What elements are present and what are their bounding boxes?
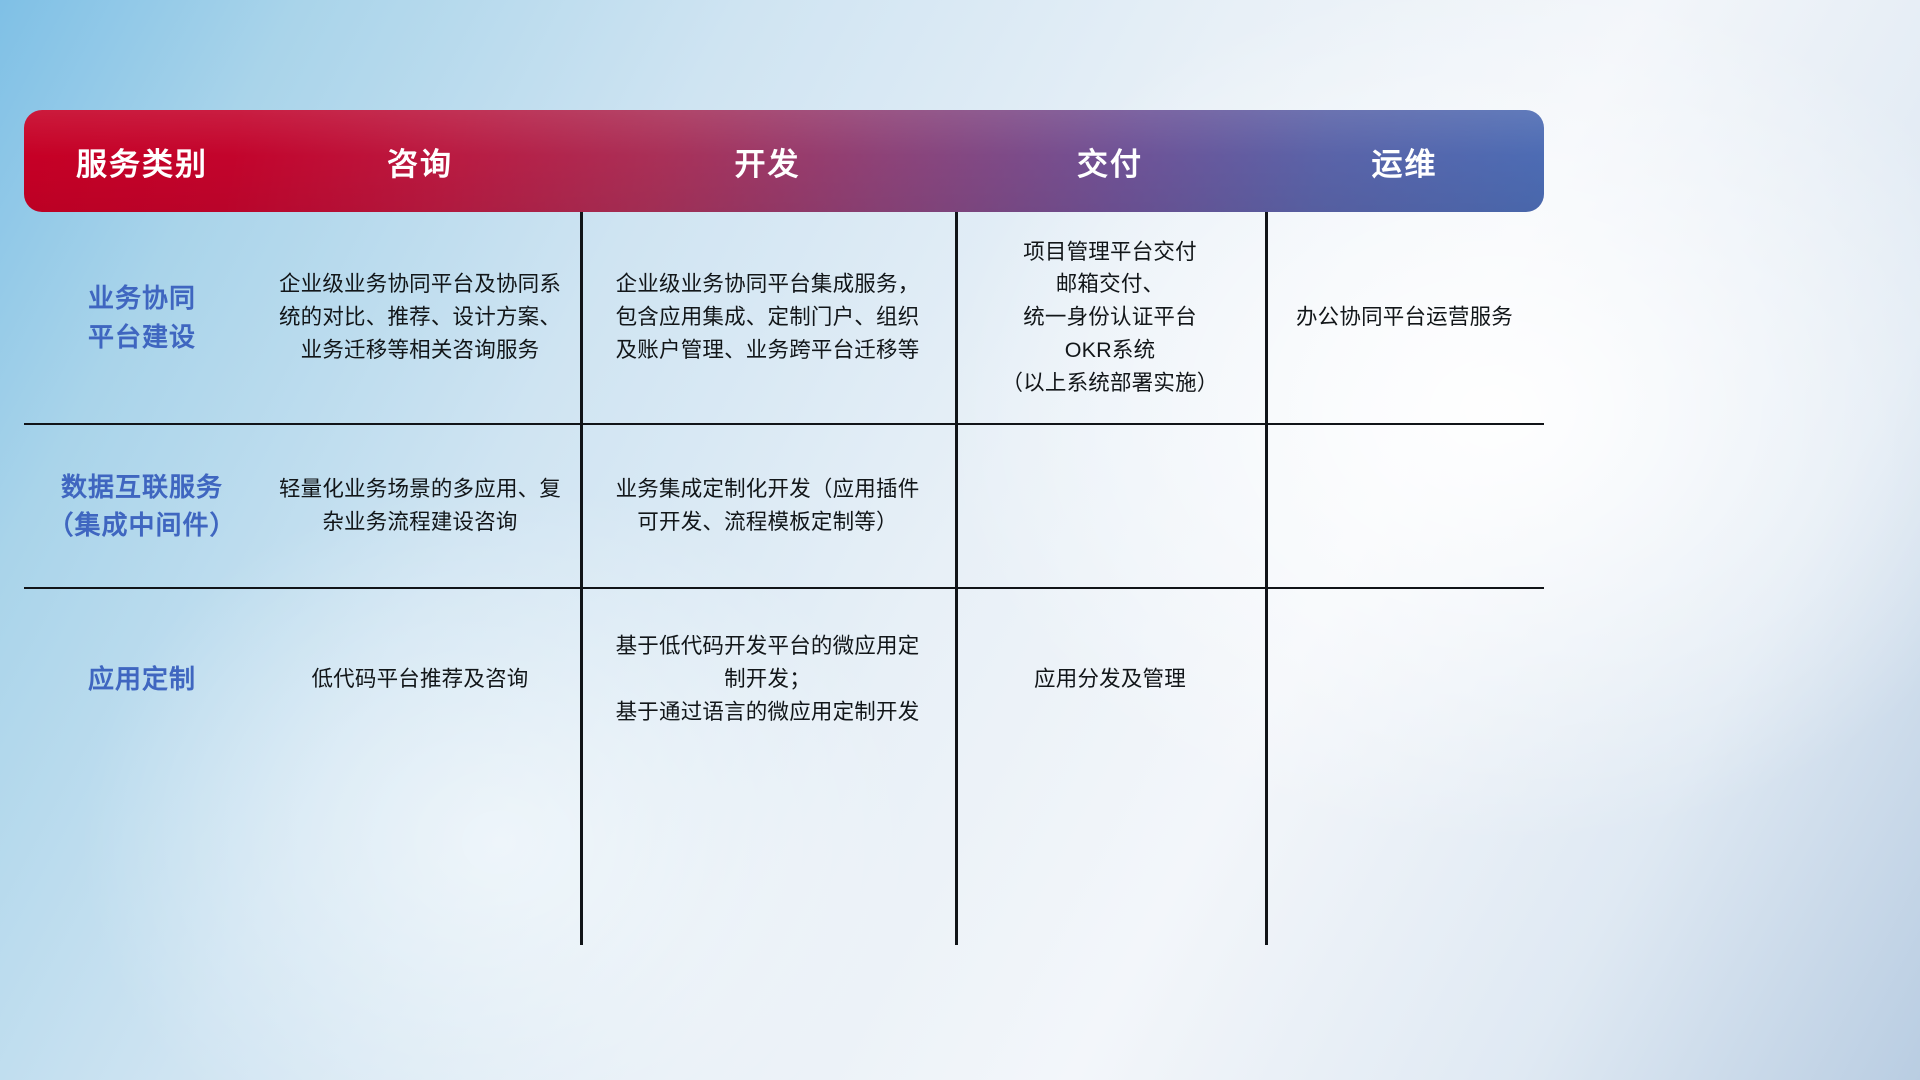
column-divider <box>955 589 958 770</box>
table-row: 业务协同 平台建设 企业级业务协同平台及协同系 统的对比、推荐、设计方案、 业务… <box>24 212 1544 423</box>
column-header-operations: 运维 <box>1265 139 1544 184</box>
cell-consulting: 轻量化业务场景的多应用、复 杂业务流程建设咨询 <box>260 425 580 587</box>
column-header-delivery: 交付 <box>955 139 1265 184</box>
cell-category: 应用定制 <box>24 589 260 770</box>
column-divider <box>955 425 958 587</box>
column-header-consulting: 咨询 <box>260 139 580 184</box>
cell-development: 企业级业务协同平台集成服务， 包含应用集成、定制门户、组织 及账户管理、业务跨平… <box>580 212 955 423</box>
column-divider <box>955 212 958 423</box>
column-header-development: 开发 <box>580 139 955 184</box>
cell-delivery: 应用分发及管理 <box>955 589 1265 770</box>
column-divider <box>1265 425 1268 587</box>
column-divider <box>580 425 583 587</box>
cell-consulting: 企业级业务协同平台及协同系 统的对比、推荐、设计方案、 业务迁移等相关咨询服务 <box>260 212 580 423</box>
column-divider <box>1265 770 1268 945</box>
column-divider <box>580 589 583 770</box>
cell-operations: 办公协同平台运营服务 <box>1265 212 1544 423</box>
cell-development: 基于低代码开发平台的微应用定 制开发； 基于通过语言的微应用定制开发 <box>580 589 955 770</box>
cell-development: 业务集成定制化开发（应用插件 可开发、流程模板定制等） <box>580 425 955 587</box>
column-divider <box>580 770 583 945</box>
cell-delivery: 项目管理平台交付 邮箱交付、 统一身份认证平台 OKR系统 （以上系统部署实施） <box>955 212 1265 423</box>
cell-delivery <box>955 425 1265 587</box>
table-row: 应用定制 低代码平台推荐及咨询 基于低代码开发平台的微应用定 制开发； 基于通过… <box>24 587 1544 770</box>
slide-canvas: 服务类别 咨询 开发 交付 运维 业务协同 平台建设 企业级业务协同平台及协同系… <box>0 0 1920 1080</box>
cell-consulting: 低代码平台推荐及咨询 <box>260 589 580 770</box>
column-divider <box>1265 589 1268 770</box>
table-body: 业务协同 平台建设 企业级业务协同平台及协同系 统的对比、推荐、设计方案、 业务… <box>24 212 1544 945</box>
column-header-category: 服务类别 <box>24 139 260 184</box>
service-matrix-table: 服务类别 咨询 开发 交付 运维 业务协同 平台建设 企业级业务协同平台及协同系… <box>24 110 1544 948</box>
table-row: 数据互联服务 （集成中间件） 轻量化业务场景的多应用、复 杂业务流程建设咨询 业… <box>24 423 1544 587</box>
table-footer-space <box>24 770 1544 945</box>
cell-category: 业务协同 平台建设 <box>24 212 260 423</box>
cell-operations <box>1265 589 1544 770</box>
cell-operations <box>1265 425 1544 587</box>
cell-category: 数据互联服务 （集成中间件） <box>24 425 260 587</box>
column-divider <box>1265 212 1268 423</box>
column-divider <box>580 212 583 423</box>
column-divider <box>955 770 958 945</box>
table-header-row: 服务类别 咨询 开发 交付 运维 <box>24 110 1544 212</box>
